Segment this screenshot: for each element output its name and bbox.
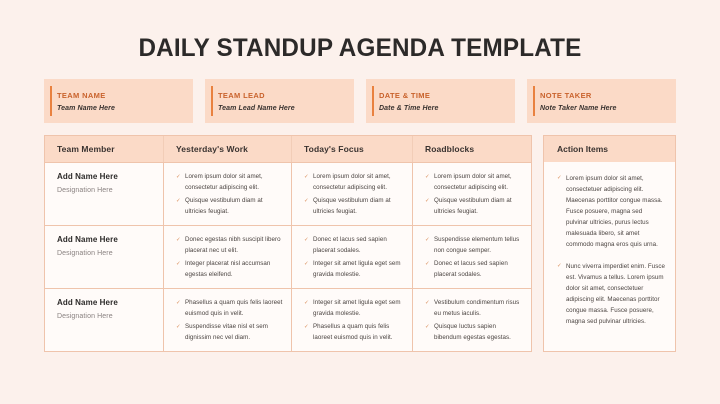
standup-table: Team Member Yesterday's Work Today's Foc… xyxy=(44,135,532,352)
member-designation[interactable]: Designation Here xyxy=(57,250,155,257)
cell-roadblocks[interactable]: ✓Suspendisse elementum tellus non congue… xyxy=(413,226,531,288)
member-designation[interactable]: Designation Here xyxy=(57,187,155,194)
check-icon: ✓ xyxy=(557,174,562,184)
cell-yesterdays-work[interactable]: ✓Donec egestas nibh suscipit libero plac… xyxy=(164,226,292,288)
list-item[interactable]: ✓Donec et lacus sed sapien placerat soda… xyxy=(304,235,404,256)
member-name[interactable]: Add Name Here xyxy=(57,298,155,307)
bullet-list: ✓Lorem ipsum dolor sit amet, consectetur… xyxy=(425,172,523,218)
table-row[interactable]: Add Name Here Designation Here ✓Donec eg… xyxy=(45,225,531,288)
list-item[interactable]: ✓Suspendisse vitae nisl et sem dignissim… xyxy=(176,322,283,343)
list-item-text: Integer sit amet ligula eget sem gravida… xyxy=(313,299,401,317)
list-item-text: Quisque vestibulum diam at ultricies feu… xyxy=(313,197,391,215)
cell-yesterdays-work[interactable]: ✓Lorem ipsum dolor sit amet, consectetur… xyxy=(164,163,292,225)
info-card-label: DATE & TIME xyxy=(379,91,515,100)
column-header-team-member: Team Member xyxy=(45,136,164,162)
list-item-text: Integer placerat nisl accumsan egestas e… xyxy=(185,260,270,278)
list-item-text: Vestibulum condimentum risus eu metus ia… xyxy=(434,299,519,317)
check-icon: ✓ xyxy=(176,299,181,309)
list-item[interactable]: ✓Lorem ipsum dolor sit amet, consectetur… xyxy=(176,172,283,193)
check-icon: ✓ xyxy=(304,236,309,246)
action-items-panel: Action Items ✓Lorem ipsum dolor sit amet… xyxy=(543,135,676,352)
list-item[interactable]: ✓Phasellus a quam quis felis laoreet eui… xyxy=(304,322,404,343)
info-card-value[interactable]: Date & Time Here xyxy=(379,105,515,112)
column-header-yesterdays-work: Yesterday's Work xyxy=(164,136,292,162)
member-name[interactable]: Add Name Here xyxy=(57,235,155,244)
list-item[interactable]: ✓Phasellus a quam quis felis laoreet eui… xyxy=(176,298,283,319)
accent-bar xyxy=(211,86,213,116)
cell-todays-focus[interactable]: ✓Lorem ipsum dolor sit amet, consectetur… xyxy=(292,163,413,225)
info-card-label: NOTE TAKER xyxy=(540,91,676,100)
agenda-template-page: DAILY STANDUP AGENDA TEMPLATE TEAM NAME … xyxy=(0,0,720,404)
check-icon: ✓ xyxy=(425,197,430,207)
list-item-text: Lorem ipsum dolor sit amet, consectetur … xyxy=(185,173,263,191)
check-icon: ✓ xyxy=(425,299,430,309)
info-card-label: TEAM NAME xyxy=(57,91,193,100)
accent-bar xyxy=(533,86,535,116)
check-icon: ✓ xyxy=(557,262,562,272)
bullet-list: ✓Phasellus a quam quis felis laoreet eui… xyxy=(176,298,283,344)
list-item[interactable]: ✓Integer sit amet ligula eget sem gravid… xyxy=(304,298,404,319)
list-item[interactable]: ✓Suspendisse elementum tellus non congue… xyxy=(425,235,523,256)
column-header-roadblocks: Roadblocks xyxy=(413,136,531,162)
check-icon: ✓ xyxy=(304,299,309,309)
list-item[interactable]: ✓Quisque luctus sapien bibendum egestas … xyxy=(425,322,523,343)
info-card-value[interactable]: Team Name Here xyxy=(57,105,193,112)
list-item-text: Quisque luctus sapien bibendum egestas e… xyxy=(434,323,511,341)
list-item[interactable]: ✓Lorem ipsum dolor sit amet, consectetue… xyxy=(557,173,665,250)
list-item-text: Quisque vestibulum diam at ultricies feu… xyxy=(434,197,512,215)
list-item-text: Lorem ipsum dolor sit amet, consectetur … xyxy=(434,173,512,191)
accent-bar xyxy=(50,86,52,116)
check-icon: ✓ xyxy=(304,260,309,270)
accent-bar xyxy=(372,86,374,116)
member-designation[interactable]: Designation Here xyxy=(57,313,155,320)
list-item-text: Suspendisse elementum tellus non congue … xyxy=(434,236,519,254)
list-item[interactable]: ✓Integer sit amet ligula eget sem gravid… xyxy=(304,259,404,280)
info-card-team-lead[interactable]: TEAM LEAD Team Lead Name Here xyxy=(205,79,354,123)
check-icon: ✓ xyxy=(425,236,430,246)
list-item-text: Integer sit amet ligula eget sem gravida… xyxy=(313,260,401,278)
list-item[interactable]: ✓Lorem ipsum dolor sit amet, consectetur… xyxy=(304,172,404,193)
table-header-row: Team Member Yesterday's Work Today's Foc… xyxy=(45,136,531,162)
check-icon: ✓ xyxy=(425,173,430,183)
bullet-list: ✓Integer sit amet ligula eget sem gravid… xyxy=(304,298,404,344)
list-item-text: Quisque vestibulum diam at ultricies feu… xyxy=(185,197,263,215)
info-card-note-taker[interactable]: NOTE TAKER Note Taker Name Here xyxy=(527,79,676,123)
info-card-value[interactable]: Note Taker Name Here xyxy=(540,105,676,112)
list-item[interactable]: ✓Donec et lacus sed sapien placerat soda… xyxy=(425,259,523,280)
info-card-date-time[interactable]: DATE & TIME Date & Time Here xyxy=(366,79,515,123)
list-item-text: Donec egestas nibh suscipit libero place… xyxy=(185,236,281,254)
cell-team-member[interactable]: Add Name Here Designation Here xyxy=(45,163,164,225)
info-card-label: TEAM LEAD xyxy=(218,91,354,100)
cell-todays-focus[interactable]: ✓Donec et lacus sed sapien placerat soda… xyxy=(292,226,413,288)
page-title: DAILY STANDUP AGENDA TEMPLATE xyxy=(11,0,709,61)
bullet-list: ✓Lorem ipsum dolor sit amet, consectetue… xyxy=(557,173,665,327)
bullet-list: ✓Lorem ipsum dolor sit amet, consectetur… xyxy=(304,172,404,218)
bullet-list: ✓Donec egestas nibh suscipit libero plac… xyxy=(176,235,283,281)
check-icon: ✓ xyxy=(176,323,181,333)
column-header-todays-focus: Today's Focus xyxy=(292,136,413,162)
bullet-list: ✓Suspendisse elementum tellus non congue… xyxy=(425,235,523,281)
list-item-text: Nunc viverra imperdiet enim. Fusce est. … xyxy=(566,263,665,325)
check-icon: ✓ xyxy=(176,173,181,183)
list-item[interactable]: ✓Quisque vestibulum diam at ultricies fe… xyxy=(304,196,404,217)
list-item[interactable]: ✓Integer placerat nisl accumsan egestas … xyxy=(176,259,283,280)
list-item-text: Donec et lacus sed sapien placerat sodal… xyxy=(434,260,508,278)
bullet-list: ✓Lorem ipsum dolor sit amet, consectetur… xyxy=(176,172,283,218)
action-items-title: Action Items xyxy=(544,136,675,162)
info-card-row: TEAM NAME Team Name Here TEAM LEAD Team … xyxy=(0,61,720,123)
list-item[interactable]: ✓Quisque vestibulum diam at ultricies fe… xyxy=(176,196,283,217)
bullet-list: ✓Donec et lacus sed sapien placerat soda… xyxy=(304,235,404,281)
check-icon: ✓ xyxy=(304,173,309,183)
cell-yesterdays-work[interactable]: ✓Phasellus a quam quis felis laoreet eui… xyxy=(164,289,292,351)
cell-team-member[interactable]: Add Name Here Designation Here xyxy=(45,226,164,288)
info-card-value[interactable]: Team Lead Name Here xyxy=(218,105,354,112)
check-icon: ✓ xyxy=(304,197,309,207)
list-item[interactable]: ✓Lorem ipsum dolor sit amet, consectetur… xyxy=(425,172,523,193)
action-items-body[interactable]: ✓Lorem ipsum dolor sit amet, consectetue… xyxy=(544,162,675,351)
check-icon: ✓ xyxy=(425,260,430,270)
cell-todays-focus[interactable]: ✓Integer sit amet ligula eget sem gravid… xyxy=(292,289,413,351)
cell-roadblocks[interactable]: ✓Lorem ipsum dolor sit amet, consectetur… xyxy=(413,163,531,225)
info-card-team-name[interactable]: TEAM NAME Team Name Here xyxy=(44,79,193,123)
list-item-text: Phasellus a quam quis felis laoreet euis… xyxy=(313,323,393,341)
list-item[interactable]: ✓Nunc viverra imperdiet enim. Fusce est.… xyxy=(557,261,665,327)
table-area: Team Member Yesterday's Work Today's Foc… xyxy=(0,123,720,352)
cell-team-member[interactable]: Add Name Here Designation Here xyxy=(45,289,164,351)
check-icon: ✓ xyxy=(176,260,181,270)
cell-roadblocks[interactable]: ✓Vestibulum condimentum risus eu metus i… xyxy=(413,289,531,351)
list-item-text: Lorem ipsum dolor sit amet, consectetuer… xyxy=(566,175,663,248)
list-item[interactable]: ✓Donec egestas nibh suscipit libero plac… xyxy=(176,235,283,256)
member-name[interactable]: Add Name Here xyxy=(57,172,155,181)
check-icon: ✓ xyxy=(176,236,181,246)
check-icon: ✓ xyxy=(425,323,430,333)
table-row[interactable]: Add Name Here Designation Here ✓Phasellu… xyxy=(45,288,531,351)
list-item-text: Lorem ipsum dolor sit amet, consectetur … xyxy=(313,173,391,191)
list-item[interactable]: ✓Quisque vestibulum diam at ultricies fe… xyxy=(425,196,523,217)
check-icon: ✓ xyxy=(304,323,309,333)
list-item-text: Donec et lacus sed sapien placerat sodal… xyxy=(313,236,387,254)
check-icon: ✓ xyxy=(176,197,181,207)
list-item-text: Phasellus a quam quis felis laoreet euis… xyxy=(185,299,282,317)
list-item-text: Suspendisse vitae nisl et sem dignissim … xyxy=(185,323,268,341)
list-item[interactable]: ✓Vestibulum condimentum risus eu metus i… xyxy=(425,298,523,319)
table-row[interactable]: Add Name Here Designation Here ✓Lorem ip… xyxy=(45,162,531,225)
bullet-list: ✓Vestibulum condimentum risus eu metus i… xyxy=(425,298,523,344)
